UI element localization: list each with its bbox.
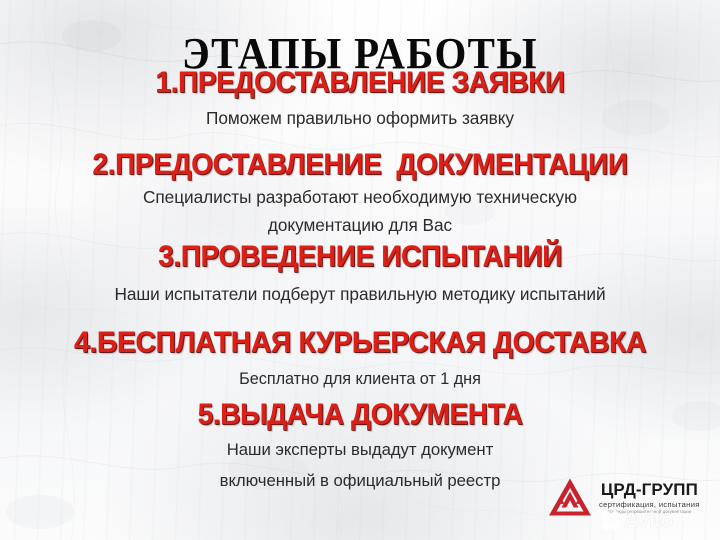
step-1-heading: 1.ПРЕДОСТАВЛЕНИЕ ЗАЯВКИ xyxy=(18,66,702,99)
step-2-description-line-2: документацию для Вас xyxy=(5,213,714,237)
step-5-heading: 5.ВЫДАЧА ДОКУМЕНТА xyxy=(18,398,702,431)
step-item-3: 3.ПРОВЕДЕНИЕ ИСПЫТАНИЙ Наши испытатели п… xyxy=(0,240,720,306)
avito-dots-icon xyxy=(600,510,621,531)
step-1-description-line-1: Поможем правильно оформить заявку xyxy=(5,106,714,130)
logo-company-name: ЦРД-ГРУПП xyxy=(599,481,700,498)
step-item-4: 4.БЕСПЛАТНАЯ КУРЬЕРСКАЯ ДОСТАВКА Бесплат… xyxy=(0,326,720,391)
step-3-description-line-1: Наши испытатели подберут правильную мето… xyxy=(5,282,714,306)
avito-wordmark: Avito xyxy=(624,510,673,531)
step-5-description-line-1: Наши эксперты выдадут документ xyxy=(5,438,714,462)
step-2-heading: 2.ПРЕДОСТАВЛЕНИЕ ДОКУМЕНТАЦИИ xyxy=(23,148,696,181)
step-item-2: 2.ПРЕДОСТАВЛЕНИЕ ДОКУМЕНТАЦИИ Специалист… xyxy=(0,148,720,237)
step-4-heading: 4.БЕСПЛАТНАЯ КУРЬЕРСКАЯ ДОСТАВКА xyxy=(20,326,700,359)
triangle-logo-icon xyxy=(548,477,592,517)
step-3-heading: 3.ПРОВЕДЕНИЕ ИСПЫТАНИЙ xyxy=(18,240,702,273)
step-item-1: 1.ПРЕДОСТАВЛЕНИЕ ЗАЯВКИ Поможем правильн… xyxy=(0,66,720,130)
poster-content: ЭТАПЫ РАБОТЫ 1.ПРЕДОСТАВЛЕНИЕ ЗАЯВКИ Пом… xyxy=(0,0,720,540)
avito-watermark: Avito xyxy=(600,506,716,534)
step-2-description-line-1: Специалисты разработают необходимую техн… xyxy=(5,185,714,209)
step-4-description-line-1: Бесплатно для клиента от 1 дня xyxy=(5,367,714,391)
poster-canvas: ЭТАПЫ РАБОТЫ 1.ПРЕДОСТАВЛЕНИЕ ЗАЯВКИ Пом… xyxy=(0,0,720,540)
